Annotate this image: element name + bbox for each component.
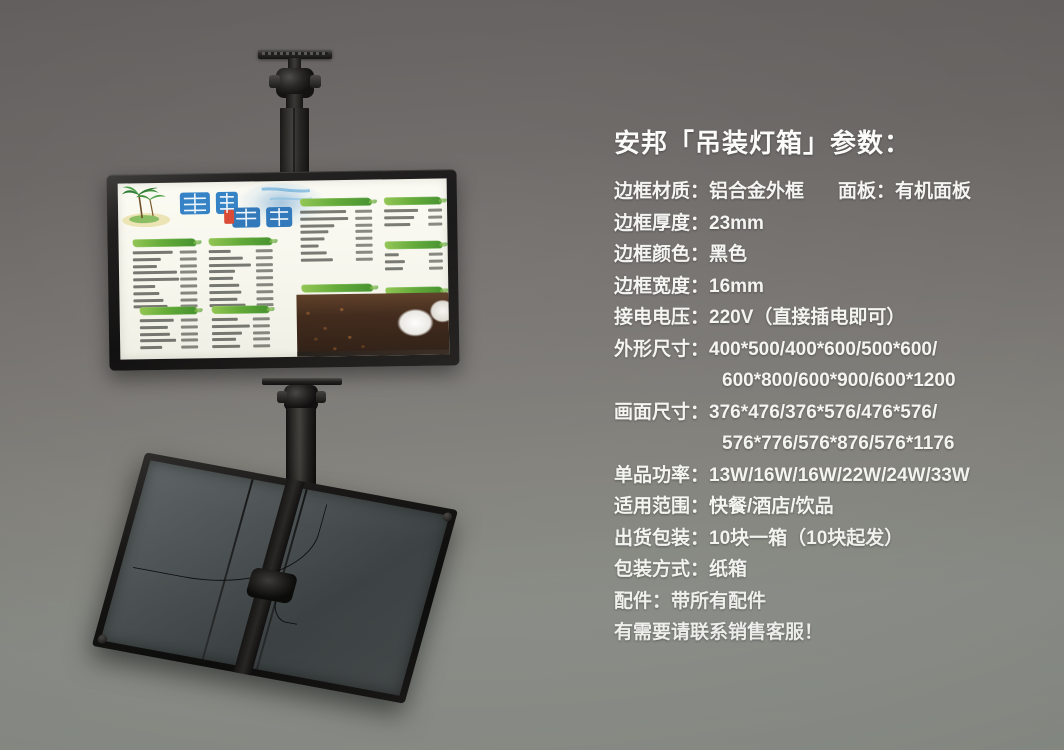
spec-value: 400*500/400*600/500*600/ (709, 334, 937, 366)
rear-view-lightbox (92, 452, 458, 703)
spec-value: 纸箱 (709, 554, 747, 586)
spec-row-accessories: 配件： 带所有配件 (614, 586, 1058, 618)
spec-label: 边框宽度： (614, 271, 709, 303)
spec-row-graphic-dimensions-cont: 576*776/576*876/576*1176 (614, 428, 1058, 460)
menu-section (384, 196, 442, 228)
photo-caption-strip (297, 349, 449, 356)
menu-section-header (301, 284, 373, 293)
spec-label: 边框厚度： (614, 208, 709, 240)
spec-row-packaging-method: 包装方式： 纸箱 (614, 554, 1058, 586)
menu-section (385, 240, 443, 272)
spec-row-voltage: 接电电压： 220V（直接插电即可） (614, 302, 1058, 334)
spec-label: 出货包装： (614, 523, 709, 555)
spec-row-application: 适用范围： 快餐/酒店/饮品 (614, 491, 1058, 523)
spec-value: 16mm (709, 271, 764, 303)
menu-section (300, 198, 373, 264)
spec-value: 23mm (709, 208, 764, 240)
spec-title: 安邦「吊装灯箱」参数： (614, 126, 1058, 160)
spec-label: 适用范围： (614, 491, 709, 523)
menu-section-header (212, 305, 270, 314)
spec-row-power: 单品功率： 13W/16W/16W/22W/24W/33W (614, 460, 1058, 492)
spec-label: 包装方式： (614, 554, 709, 586)
coffee-photo-inset (296, 292, 449, 356)
menu-section-header (133, 238, 197, 247)
spec-row-shipping-package: 出货包装： 10块一箱（10块起发） (614, 523, 1058, 555)
menu-section (140, 306, 199, 352)
menu-section (133, 238, 198, 311)
spec-label: 边框材质： (614, 176, 709, 208)
swivel-knob-right (316, 391, 326, 403)
menu-section (208, 237, 273, 310)
lightbox-aluminium-frame-rear (92, 452, 458, 703)
product-spec-image: 安邦「吊装灯箱」参数： 边框材质： 铝合金外框 面板： 有机面板 边框厚度： 2… (0, 0, 1064, 750)
menu-section-header (384, 196, 442, 205)
lightbox-aluminium-frame (106, 169, 459, 370)
spec-value: 10块一箱（10块起发） (709, 523, 903, 555)
spec-label: 画面尺寸： (614, 397, 709, 429)
lightbox-back-panel (101, 460, 450, 695)
spec-row-frame-color: 边框颜色： 黑色 (614, 239, 1058, 271)
spec-label: 外形尺寸： (614, 334, 709, 366)
spec-value: 铝合金外框 (709, 176, 804, 208)
spec-row-graphic-dimensions: 画面尺寸： 376*476/376*576/476*576/ (614, 397, 1058, 429)
spec-value: 黑色 (709, 239, 747, 271)
spec-value: 13W/16W/16W/22W/24W/33W (709, 460, 970, 492)
swivel-knob-right (310, 75, 321, 88)
front-facing-lightbox (106, 169, 459, 370)
spec-value: 快餐/酒店/饮品 (709, 491, 834, 523)
spec-label: 配件： (614, 586, 671, 618)
spec-row-frame-width: 边框宽度： 16mm (614, 271, 1058, 303)
spec-value: 376*476/376*576/476*576/ (709, 397, 937, 429)
spec-label: 边框颜色： (614, 239, 709, 271)
spec-panel: 安邦「吊装灯箱」参数： 边框材质： 铝合金外框 面板： 有机面板 边框厚度： 2… (612, 126, 1058, 649)
spec-value: 220V（直接插电即可） (709, 302, 905, 334)
spec-extra-value: 有机面板 (895, 176, 971, 208)
spec-label: 接电电压： (614, 302, 709, 334)
menu-section-header (140, 306, 198, 315)
menu-section-header (385, 240, 443, 249)
menu-section-header (208, 237, 272, 246)
contact-sales-note: 有需要请联系销售客服！ (614, 617, 1058, 649)
swivel-knob-left (269, 75, 280, 88)
spec-row-outer-dimensions-cont: 600*800/600*900/600*1200 (614, 365, 1058, 397)
ceiling-plate-icon (262, 378, 342, 385)
lightbox-menu-panel (118, 178, 450, 359)
menu-section-header (300, 198, 372, 207)
menu-section (212, 305, 271, 351)
ceiling-mount-bracket-top (258, 50, 348, 190)
spec-row-frame-material: 边框材质： 铝合金外框 面板： 有机面板 (614, 176, 1058, 208)
spec-row-outer-dimensions: 外形尺寸： 400*500/400*600/500*600/ (614, 334, 1058, 366)
spec-row-frame-thickness: 边框厚度： 23mm (614, 208, 1058, 240)
spec-value: 带所有配件 (671, 586, 766, 618)
swivel-knob-left (277, 391, 287, 403)
spec-extra-label: 面板： (804, 176, 895, 208)
product-photo (0, 0, 600, 750)
spec-label: 单品功率： (614, 460, 709, 492)
